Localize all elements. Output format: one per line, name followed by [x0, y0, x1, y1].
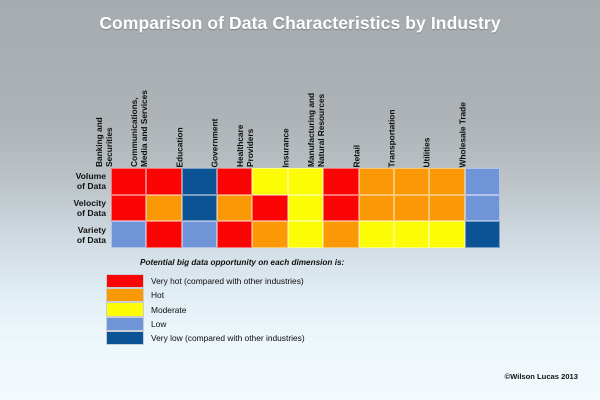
heatmap-cell[interactable]	[252, 168, 287, 195]
heatmap-row	[111, 195, 500, 222]
legend-caption: Potential big data opportunity on each d…	[140, 258, 344, 267]
legend-swatch	[106, 317, 144, 331]
heatmap-cell[interactable]	[465, 168, 500, 195]
heatmap-cell[interactable]	[394, 195, 429, 222]
heatmap-cell[interactable]	[111, 168, 146, 195]
legend-swatch	[106, 274, 144, 288]
column-header-label: Retail	[352, 144, 362, 167]
column-header-label: Education	[175, 127, 185, 167]
heatmap-cell[interactable]	[111, 195, 146, 222]
heatmap-cell[interactable]	[465, 221, 500, 248]
heatmap-cell[interactable]	[323, 168, 358, 195]
legend-item-label: Moderate	[151, 305, 186, 315]
row-label: Velocityof Data	[24, 198, 106, 218]
heatmap-cell[interactable]	[429, 221, 464, 248]
heatmap-cell[interactable]	[182, 195, 217, 222]
heatmap-cell[interactable]	[182, 168, 217, 195]
heatmap-cell[interactable]	[429, 195, 464, 222]
legend-item-label: Hot	[151, 290, 164, 300]
heatmap-cell[interactable]	[323, 221, 358, 248]
heatmap-cell[interactable]	[252, 221, 287, 248]
heatmap-grid	[111, 168, 500, 248]
heatmap-cell[interactable]	[111, 221, 146, 248]
legend-swatch	[106, 288, 144, 302]
heatmap-cell[interactable]	[252, 195, 287, 222]
heatmap-cell[interactable]	[288, 221, 323, 248]
row-label: Varietyof Data	[24, 225, 106, 245]
heatmap-cell[interactable]	[288, 168, 323, 195]
heatmap-cell[interactable]	[359, 221, 394, 248]
heatmap-cell[interactable]	[429, 168, 464, 195]
heatmap-cell[interactable]	[394, 168, 429, 195]
heatmap-cell[interactable]	[217, 195, 252, 222]
heatmap-cell[interactable]	[288, 195, 323, 222]
column-header-label: Utilities	[423, 137, 433, 167]
column-header-label: Insurance	[281, 128, 291, 167]
heatmap-row	[111, 221, 500, 248]
heatmap-cell[interactable]	[359, 195, 394, 222]
chart-canvas: Comparison of Data Characteristics by In…	[0, 0, 600, 400]
column-header-label: Banking andSecurities	[95, 117, 114, 167]
legend-item-label: Very hot (compared with other industries…	[151, 276, 304, 286]
column-header: Wholesale Trade	[465, 60, 500, 168]
legend-item-label: Very low (compared with other industries…	[151, 333, 305, 343]
legend-swatch	[106, 331, 144, 345]
heatmap-cell[interactable]	[146, 168, 181, 195]
heatmap-row	[111, 168, 500, 195]
credit-text: ©Wilson Lucas 2013	[505, 372, 578, 381]
row-label: Volumeof Data	[24, 171, 106, 191]
heatmap-cell[interactable]	[394, 221, 429, 248]
heatmap-cell[interactable]	[465, 195, 500, 222]
heatmap-cell[interactable]	[146, 195, 181, 222]
column-header-label: HealthcareProviders	[236, 125, 255, 167]
column-header-label: Transportation	[387, 109, 397, 167]
legend-swatch	[106, 302, 144, 316]
heatmap-cell[interactable]	[217, 221, 252, 248]
heatmap-cell[interactable]	[359, 168, 394, 195]
page-title: Comparison of Data Characteristics by In…	[0, 13, 600, 34]
legend-item-label: Low	[151, 319, 166, 329]
heatmap-cell[interactable]	[182, 221, 217, 248]
column-header-label: Manufacturing andNatural Resources	[307, 93, 326, 167]
column-header-band: Banking andSecuritiesCommunications,Medi…	[111, 60, 500, 168]
heatmap-cell[interactable]	[323, 195, 358, 222]
heatmap-cell[interactable]	[146, 221, 181, 248]
column-header-label: Wholesale Trade	[458, 102, 468, 167]
column-header-label: Government	[211, 118, 221, 167]
heatmap-cell[interactable]	[217, 168, 252, 195]
column-header-label: Communications,Media and Services	[130, 90, 149, 167]
